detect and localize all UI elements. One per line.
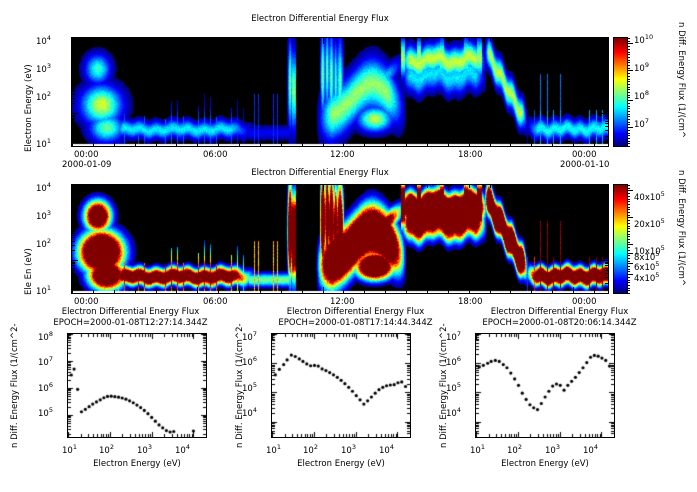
spectrum-right-xtick-2: 103 bbox=[545, 443, 560, 456]
spectrum-title-left: Electron Differential Energy Flux bbox=[33, 307, 228, 317]
xtick-mid-3: 18:00 bbox=[458, 297, 483, 307]
spectrum-left-ytick-0: 108 bbox=[38, 330, 53, 343]
xtick-mid-0: 00:00 bbox=[74, 297, 99, 307]
spectrum-right-canvas bbox=[476, 334, 614, 437]
xtick-top-0: 00:00 bbox=[74, 150, 99, 160]
spectrum-middle-ytick-2: 105 bbox=[242, 381, 257, 394]
spectrum-middle-canvas bbox=[272, 334, 410, 437]
spectrum-left-xtick-3: 104 bbox=[175, 443, 190, 456]
cbar-top-tick-0: 1010 bbox=[634, 33, 653, 46]
spectrogram-middle-plot[interactable] bbox=[72, 185, 608, 293]
ytick-top-2: 102 bbox=[36, 90, 51, 103]
spectrum-left-ytick-1: 107 bbox=[38, 355, 53, 368]
xtick-top-3: 18:00 bbox=[458, 150, 483, 160]
panel-title-middle: Electron Differential Energy Flux bbox=[0, 168, 640, 178]
colorbar-middle[interactable] bbox=[614, 185, 627, 293]
spectrum-left-xtick-1: 102 bbox=[99, 443, 114, 456]
spectrum-right-ytick-0: 107 bbox=[446, 330, 461, 343]
spectrogram-top-canvas bbox=[72, 38, 608, 146]
spectrum-right-xtick-3: 104 bbox=[583, 443, 598, 456]
xtick-top-2: 12:00 bbox=[330, 150, 355, 160]
ytick-top-3: 101 bbox=[36, 137, 51, 150]
spectrum-middle-ytick-1: 106 bbox=[242, 355, 257, 368]
spectrum-left-xtick-0: 101 bbox=[62, 443, 77, 456]
spectrum-subtitle-middle: EPOCH=2000-01-08T17:14:44.344Z bbox=[258, 318, 453, 328]
cbar-mid-tick-0: 40x105 bbox=[634, 190, 665, 203]
spectrum-title-middle: Electron Differential Energy Flux bbox=[258, 307, 453, 317]
ytick-top-1: 103 bbox=[36, 62, 51, 75]
xtick-mid-1: 06:00 bbox=[203, 297, 228, 307]
spectrum-left-ytick-3: 105 bbox=[38, 406, 53, 419]
ytick-mid-3: 101 bbox=[36, 284, 51, 297]
ytick-mid-1: 103 bbox=[36, 209, 51, 222]
spectrum-middle-xtick-3: 104 bbox=[379, 443, 394, 456]
spectrum-right-ytick-1: 106 bbox=[446, 355, 461, 368]
spectrum-right-ytick-3: 104 bbox=[446, 406, 461, 419]
spectrum-middle-xtick-0: 101 bbox=[266, 443, 281, 456]
spectrum-middle-xtick-1: 102 bbox=[303, 443, 318, 456]
colorbar-top-gradient bbox=[614, 38, 627, 146]
xtick-top-4: 00:00 bbox=[572, 150, 597, 160]
spectrum-left-xlabel: Electron Energy (eV) bbox=[68, 459, 206, 469]
spectrogram-middle-canvas bbox=[72, 185, 608, 293]
colorbar-top-label: n Diff. Energy Flux (1/(cm^ bbox=[676, 22, 686, 172]
spectrum-middle-ytick-0: 107 bbox=[242, 330, 257, 343]
spectrum-middle-plot[interactable] bbox=[272, 334, 410, 437]
spectrum-right-xlabel: Electron Energy (eV) bbox=[476, 459, 614, 469]
colorbar-top[interactable] bbox=[614, 38, 627, 146]
spectrum-subtitle-left: EPOCH=2000-01-08T12:27:14.344Z bbox=[33, 318, 228, 328]
spectrum-subtitle-right: EPOCH=2000-01-08T20:06:14.344Z bbox=[462, 318, 657, 328]
spectrum-right-xtick-0: 101 bbox=[470, 443, 485, 456]
xtick-top-1: 06:00 bbox=[203, 150, 228, 160]
panel-title-top: Electron Differential Energy Flux bbox=[0, 14, 640, 24]
spectrum-title-right: Electron Differential Energy Flux bbox=[462, 307, 657, 317]
colorbar-middle-gradient bbox=[614, 185, 627, 293]
spectrum-right-plot[interactable] bbox=[476, 334, 614, 437]
spectrum-left-ytick-2: 106 bbox=[38, 381, 53, 394]
spectrogram-top-plot[interactable] bbox=[72, 38, 608, 146]
cbar-top-tick-3: 107 bbox=[634, 117, 649, 130]
spectrum-ylabel-left: n Diff. Energy Flux (1/(cm^2- bbox=[10, 318, 20, 448]
cbar-mid-tick-5: 4x105 bbox=[634, 271, 659, 284]
spectrum-middle-xtick-2: 103 bbox=[341, 443, 356, 456]
spectrum-middle-xlabel: Electron Energy (eV) bbox=[272, 459, 410, 469]
panel-ylabel-middle: Ele En (eV) bbox=[24, 205, 34, 295]
cbar-top-tick-1: 109 bbox=[634, 61, 649, 74]
ytick-mid-0: 104 bbox=[36, 181, 51, 194]
colorbar-middle-label: n Diff. Energy Flux (1/(cm^ bbox=[676, 170, 686, 320]
xtick-mid-2: 12:00 bbox=[330, 297, 355, 307]
spectrum-middle-ytick-3: 104 bbox=[242, 406, 257, 419]
xtick-mid-4: 00:00 bbox=[572, 297, 597, 307]
spectrum-right-ytick-2: 105 bbox=[446, 381, 461, 394]
ytick-top-0: 104 bbox=[36, 34, 51, 47]
cbar-top-tick-2: 108 bbox=[634, 89, 649, 102]
spectrum-left-xtick-2: 103 bbox=[137, 443, 152, 456]
spectrum-right-xtick-1: 102 bbox=[507, 443, 522, 456]
spectrum-left-canvas bbox=[68, 334, 206, 437]
ytick-mid-2: 102 bbox=[36, 237, 51, 250]
spectrum-left-plot[interactable] bbox=[68, 334, 206, 437]
cbar-mid-tick-1: 20x105 bbox=[634, 217, 665, 230]
panel-ylabel-top: Electron Energy (eV) bbox=[24, 42, 34, 152]
